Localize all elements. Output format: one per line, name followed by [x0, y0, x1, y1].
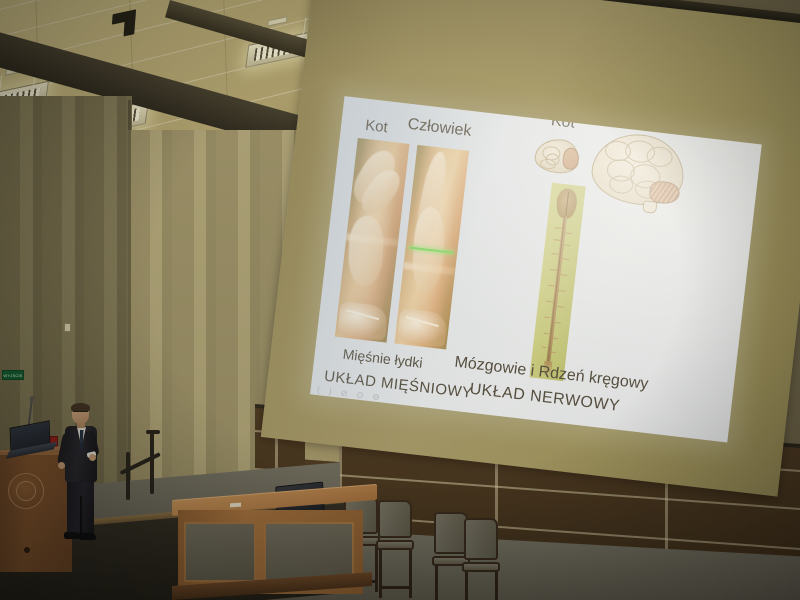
university-crest-emblem: [8, 473, 44, 509]
spinal-cord-image: [529, 183, 585, 382]
presenter: [56, 404, 106, 546]
paper-on-table: [230, 503, 241, 508]
projected-slide: Kot Człowiek Mięśnie łydki UKŁAD MIĘŚNIO…: [310, 96, 762, 442]
wall-corner-shadow: [128, 100, 131, 500]
table-front-panel: [184, 522, 256, 582]
slide-label-left-human: Człowiek: [407, 116, 473, 141]
cat-brain-image: [533, 137, 581, 176]
table-front-panel: [264, 522, 354, 582]
handrail-top-return: [146, 430, 160, 434]
ceiling-speaker-icon: [124, 17, 136, 37]
handrail-post: [126, 452, 130, 500]
presenter-leg-seam: [80, 496, 82, 534]
projection-screen: Kot Człowiek Mięśnie łydki UKŁAD MIĘŚNIO…: [261, 0, 800, 497]
presenter-shoe: [79, 533, 96, 540]
slide-caption-muscles: Mięśnie łydki: [342, 346, 423, 371]
slide-label-left-cat: Kot: [364, 117, 388, 136]
presenter-hand: [89, 454, 96, 461]
human-brain-image: [588, 129, 687, 209]
exit-sign: WYJŚCIE: [2, 370, 24, 380]
brainstem-detail: [642, 200, 657, 214]
spinal-cord-top-detail: [555, 187, 578, 219]
wall-switch-plate: [64, 323, 71, 332]
lecture-hall-photo: WYJŚCIE Kot Człowiek: [0, 0, 800, 600]
presenter-hand: [58, 462, 65, 469]
presenter-glasses-icon: [73, 411, 88, 415]
exit-sign-label: WYJŚCIE: [3, 373, 22, 378]
handrail-post: [150, 430, 154, 494]
presenter-shoe: [64, 532, 80, 539]
podium-knob: [24, 547, 30, 553]
